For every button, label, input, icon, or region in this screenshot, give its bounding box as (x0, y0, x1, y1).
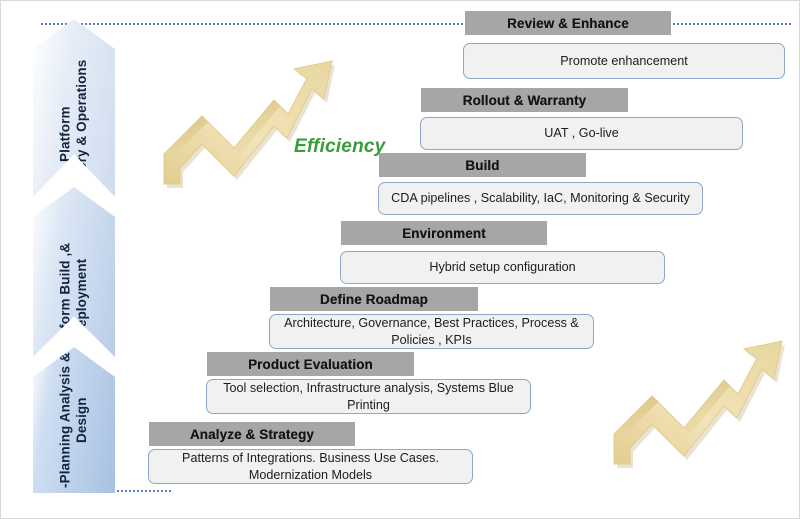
growth-arrow-efficiency: Efficiency (156, 56, 341, 191)
growth-arrow-maturity: Maturity (606, 336, 791, 471)
step-header: Analyze & Strategy (149, 422, 355, 446)
diagram-canvas: Platform Advisory & Operations Platform … (0, 0, 800, 519)
step-body: Patterns of Integrations. Business Use C… (148, 449, 473, 484)
growth-label-efficiency: Efficiency (294, 136, 385, 158)
